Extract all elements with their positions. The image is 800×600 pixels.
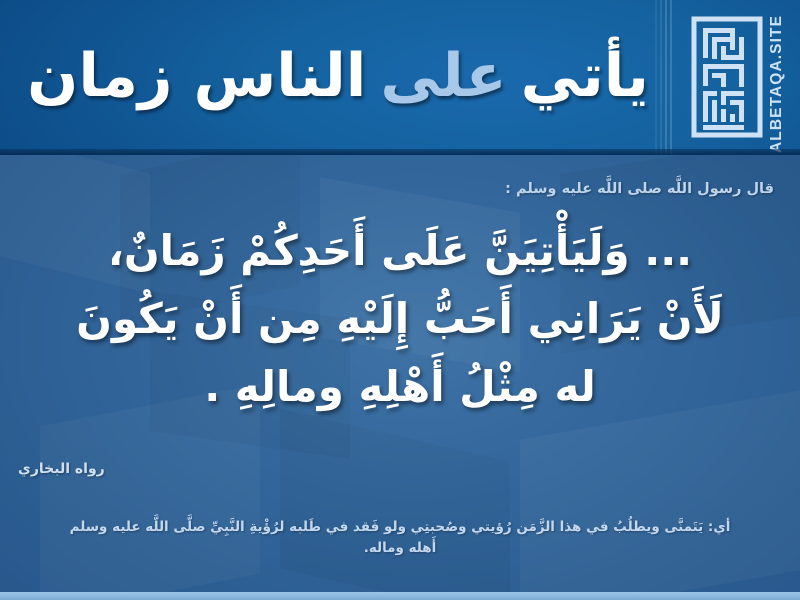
page-title: يأتي على الناس زمان bbox=[16, 16, 660, 136]
header-stripe bbox=[665, 0, 667, 155]
kufic-square-logo-icon bbox=[690, 15, 764, 139]
hadith-line: ... وَلَيَأْتِيَنَّ عَلَى أَحَدِكُمْ زَم… bbox=[14, 217, 786, 285]
title-part-3: الناس زمان bbox=[27, 46, 366, 106]
hadith-line: لَأَنْ يَرَانِي أَحَبُّ إِلَيْهِ مِن أَن… bbox=[14, 285, 786, 353]
header-stripe bbox=[660, 0, 662, 155]
site-logo[interactable]: ALBETAQA.SITE bbox=[678, 12, 786, 142]
hadith-text: ... وَلَيَأْتِيَنَّ عَلَى أَحَدِكُمْ زَم… bbox=[14, 217, 786, 421]
title-part-2: على bbox=[380, 46, 506, 106]
card-body: قال رسول اللَّه صلى اللَّه عليه وسلم : .… bbox=[0, 155, 800, 592]
title-part-1: يأتي bbox=[521, 46, 649, 106]
hadith-source: رواه البخاري bbox=[18, 461, 105, 477]
site-url-label: ALBETAQA.SITE bbox=[768, 15, 786, 139]
footer-accent-strip bbox=[0, 592, 800, 600]
explanation-line: أي: يَتَمنَّى ويطلُبُ في هذا الزَّمَن رُ… bbox=[145, 519, 730, 535]
islamic-hadith-card: يأتي على الناس زمان ALBETAQA.SITE bbox=[0, 0, 800, 600]
header-stripe bbox=[670, 0, 672, 155]
explanation-text: أي: يَتَمنَّى ويطلُبُ في هذا الزَّمَن رُ… bbox=[60, 517, 740, 559]
hadith-line: له مِثْلُ أَهْلِهِ ومالِهِ . bbox=[14, 353, 786, 421]
card-header: يأتي على الناس زمان ALBETAQA.SITE bbox=[0, 0, 800, 155]
narrator-attribution: قال رسول اللَّه صلى اللَّه عليه وسلم : bbox=[505, 181, 774, 197]
